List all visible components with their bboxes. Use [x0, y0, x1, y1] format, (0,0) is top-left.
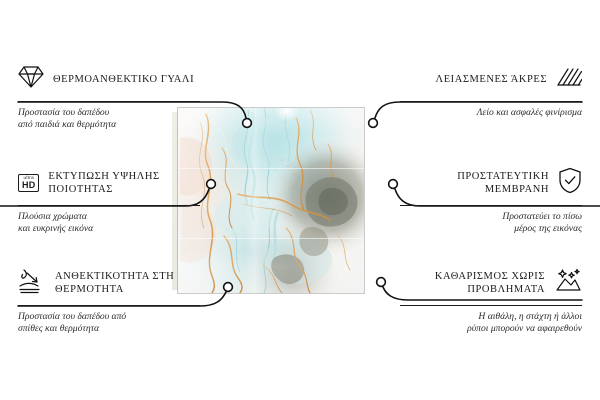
- feature-body: Λείο και ασφαλές φινίρισμα: [400, 107, 582, 119]
- feature-body: Η αιθάλη, η στάχτη ή άλλοι ρύποι μπορούν…: [400, 311, 582, 334]
- feature-title: ΠΡΟΣΤΑΤΕΥΤΙΚΗ ΜΕΜΒΡΑΝΗ: [400, 170, 549, 196]
- feature-polished-edges: ΛΕΙΑΣΜΕΝΕΣ ΆΚΡΕΣ Λείο και ασφαλές φινίρι…: [400, 62, 582, 119]
- feature-heading: ΚΑΘΑΡΙΣΜΟΣ ΧΩΡΙΣ ΠΡΟΒΛΗΜΑΤΑ: [400, 266, 582, 300]
- feature-heat-durability: ΑΝΘΕΚΤΙΚΟΤΗΤΑ ΣΤΗ ΘΕΡΜΟΤΗΤΑ Προστασία το…: [18, 266, 200, 334]
- feature-body-line1: Πλούσια χρώματα: [18, 211, 200, 223]
- feature-title: ΕΚΤΥΠΩΣΗ ΥΨΗΛΗΣ ΠΟΙΟΤΗΤΑΣ: [48, 170, 200, 196]
- glass-highlight-line-2: [178, 238, 364, 239]
- feature-title: ΛΕΙΑΣΜΕΝΕΣ ΆΚΡΕΣ: [436, 73, 547, 86]
- feature-divider: [18, 101, 200, 102]
- feature-heading: ultra HD ΕΚΤΥΠΩΣΗ ΥΨΗΛΗΣ ΠΟΙΟΤΗΤΑΣ: [18, 166, 200, 200]
- feature-body-line1: Η αιθάλη, η στάχτη ή άλλοι: [400, 311, 582, 323]
- feature-divider: [400, 101, 582, 102]
- glass-highlight-line-1: [178, 168, 364, 169]
- shield-check-icon: [558, 167, 582, 199]
- feature-heading: ΑΝΘΕΚΤΙΚΟΤΗΤΑ ΣΤΗ ΘΕΡΜΟΤΗΤΑ: [18, 266, 200, 300]
- feature-title: ΑΝΘΕΚΤΙΚΟΤΗΤΑ ΣΤΗ ΘΕΡΜΟΤΗΤΑ: [55, 270, 200, 296]
- feature-title: ΚΑΘΑΡΙΣΜΟΣ ΧΩΡΙΣ ΠΡΟΒΛΗΜΑΤΑ: [400, 270, 545, 296]
- diamond-icon: [18, 65, 44, 94]
- infographic-canvas: ΘΕΡΜΟΑΝΘΕΚΤΙΚΟ ΓΥΑΛΙ Προστασία του δαπέδ…: [0, 0, 600, 400]
- feature-body: Προστασία του δαπέδου από σπίθες και θερ…: [18, 311, 200, 334]
- marble-artwork: [178, 108, 364, 293]
- feature-body-line2: ρύποι μπορούν να αφαιρεθούν: [400, 323, 582, 335]
- glass-panel: [178, 108, 364, 293]
- sparkle-wipe-icon: [554, 268, 582, 299]
- feature-body-line2: από παιδιά και θερμότητα: [18, 119, 200, 131]
- feature-divider: [18, 205, 200, 206]
- feature-body-line1: Προστασία του δαπέδου από: [18, 311, 200, 323]
- feature-heading: ΘΕΡΜΟΑΝΘΕΚΤΙΚΟ ΓΥΑΛΙ: [18, 62, 200, 96]
- feature-body: Προστασία του δαπέδου από παιδιά και θερ…: [18, 107, 200, 130]
- polished-edges-icon: [556, 66, 582, 93]
- feature-divider: [400, 305, 582, 306]
- ultra-hd-icon: ultra HD: [18, 174, 39, 192]
- flame-deflect-icon: [18, 268, 46, 299]
- feature-body-line1: Προστασία του δαπέδου: [18, 107, 200, 119]
- feature-protective-membrane: ΠΡΟΣΤΑΤΕΥΤΙΚΗ ΜΕΜΒΡΑΝΗ Προστατεύει το πί…: [400, 166, 582, 234]
- feature-body-line1: Λείο και ασφαλές φινίρισμα: [400, 107, 582, 119]
- feature-heat-resistant-glass: ΘΕΡΜΟΑΝΘΕΚΤΙΚΟ ΓΥΑΛΙ Προστασία του δαπέδ…: [18, 62, 200, 130]
- feature-body-line1: Προστατεύει το πίσω: [400, 211, 582, 223]
- product-image: [178, 108, 410, 293]
- feature-easy-cleaning: ΚΑΘΑΡΙΣΜΟΣ ΧΩΡΙΣ ΠΡΟΒΛΗΜΑΤΑ Η αιθάλη, η …: [400, 266, 582, 334]
- feature-heading: ΛΕΙΑΣΜΕΝΕΣ ΆΚΡΕΣ: [400, 62, 582, 96]
- feature-body: Πλούσια χρώματα και ευκρινής εικόνα: [18, 211, 200, 234]
- feature-body: Προστατεύει το πίσω μέρος της εικόνας: [400, 211, 582, 234]
- feature-divider: [18, 305, 200, 306]
- ultra-hd-icon-bottom: HD: [22, 181, 35, 190]
- feature-body-line2: μέρος της εικόνας: [400, 223, 582, 235]
- feature-title: ΘΕΡΜΟΑΝΘΕΚΤΙΚΟ ΓΥΑΛΙ: [53, 73, 194, 86]
- feature-high-quality-print: ultra HD ΕΚΤΥΠΩΣΗ ΥΨΗΛΗΣ ΠΟΙΟΤΗΤΑΣ Πλούσ…: [18, 166, 200, 234]
- feature-body-line2: σπίθες και θερμότητα: [18, 323, 200, 335]
- marble-artwork-svg: [178, 108, 364, 293]
- feature-body-line2: και ευκρινής εικόνα: [18, 223, 200, 235]
- feature-divider: [400, 205, 582, 206]
- feature-heading: ΠΡΟΣΤΑΤΕΥΤΙΚΗ ΜΕΜΒΡΑΝΗ: [400, 166, 582, 200]
